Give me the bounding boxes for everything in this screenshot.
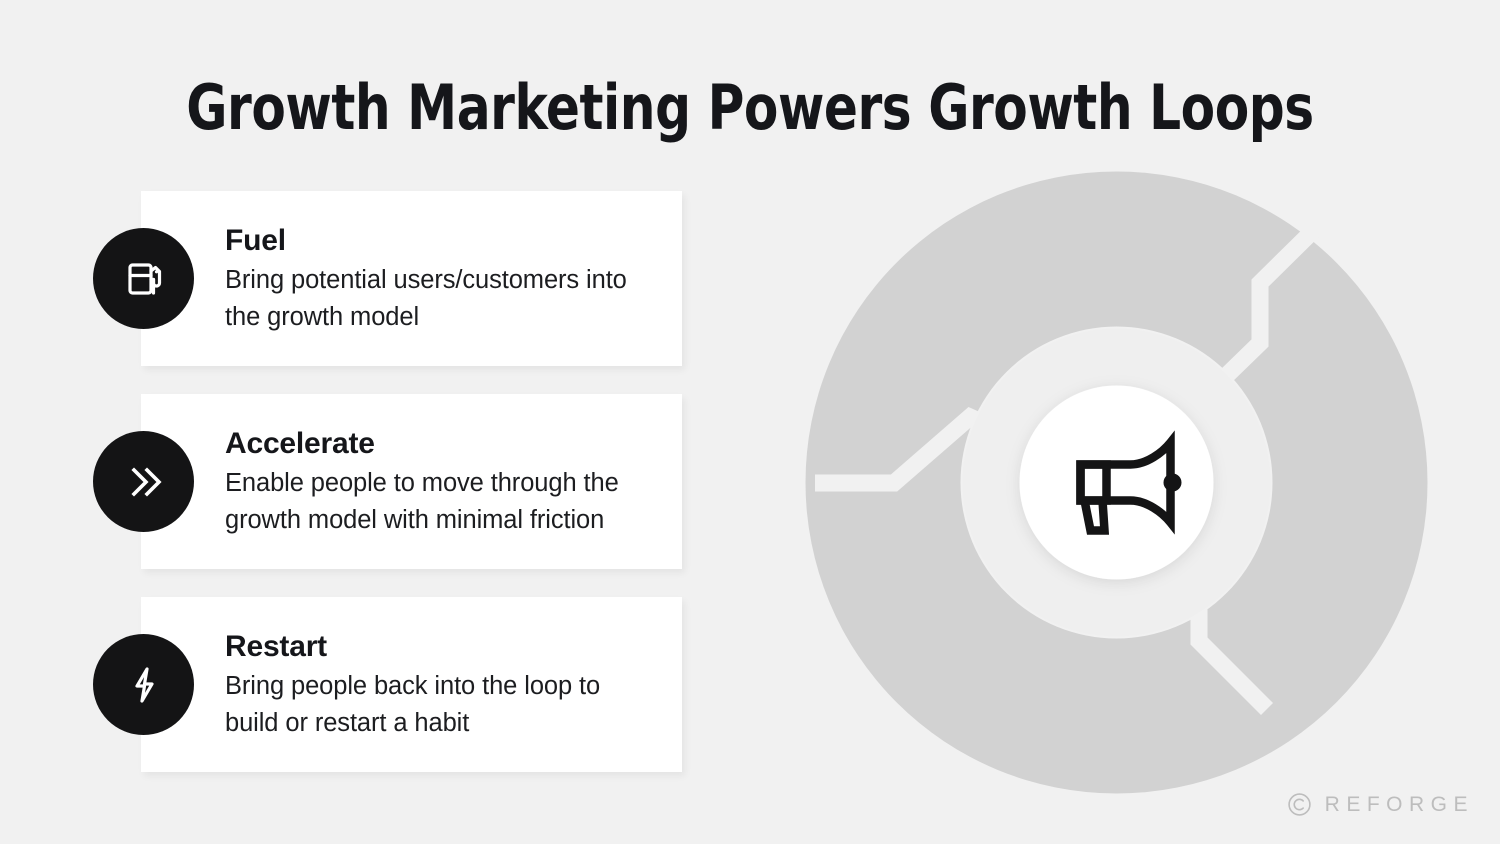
stage-badge-fuel [93, 228, 194, 329]
stage-title: Accelerate [225, 425, 668, 463]
fuel-pump-icon [120, 255, 168, 303]
list-item[interactable]: Accelerate Enable people to move through… [141, 394, 686, 569]
stage-card-body: Accelerate Enable people to move through… [225, 425, 668, 539]
stage-card-body: Fuel Bring potential users/customers int… [225, 222, 668, 336]
copyright-icon [1287, 792, 1312, 817]
stage-title: Fuel [225, 222, 668, 260]
loop-stage-card-list: Fuel Bring potential users/customers int… [141, 191, 686, 800]
lightning-bolt-icon [120, 661, 168, 709]
double-chevron-right-icon [120, 458, 168, 506]
stage-description: Enable people to move through the growth… [225, 465, 655, 539]
stage-badge-accelerate [93, 431, 194, 532]
slide-canvas: Growth Marketing Powers Growth Loops Fue… [0, 0, 1500, 844]
growth-loop-diagram [805, 171, 1428, 794]
stage-description: Bring people back into the loop to build… [225, 668, 655, 742]
stage-card-body: Restart Bring people back into the loop … [225, 628, 668, 742]
page-title: Growth Marketing Powers Growth Loops [75, 67, 1425, 149]
stage-title: Restart [225, 628, 668, 666]
brand-name: REFORGE [1325, 794, 1474, 815]
list-item[interactable]: Restart Bring people back into the loop … [141, 597, 686, 772]
stage-description: Bring potential users/customers into the… [225, 262, 655, 336]
list-item[interactable]: Fuel Bring potential users/customers int… [141, 191, 686, 366]
stage-badge-restart [93, 634, 194, 735]
brand-lockup: REFORGE [1287, 792, 1474, 817]
center-disc [1020, 386, 1214, 580]
